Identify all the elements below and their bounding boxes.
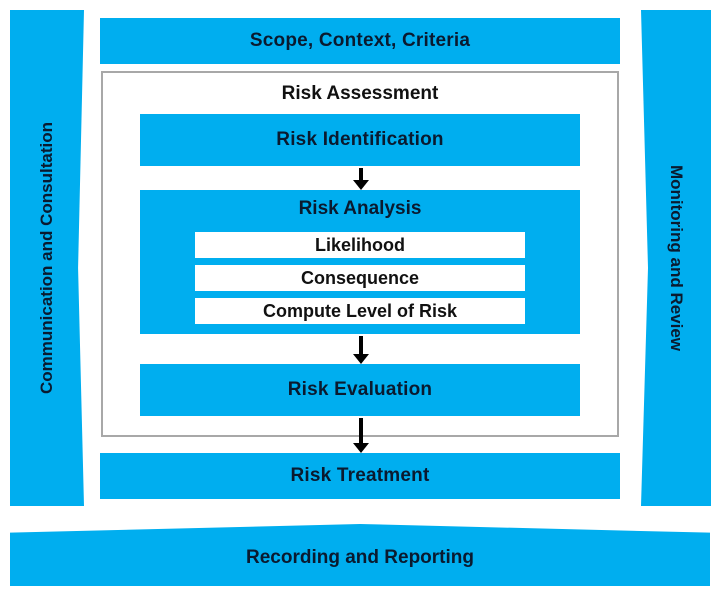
sub-box-compute-level-of-risk: Compute Level of Risk	[195, 298, 525, 324]
banner-risk-treatment: Risk Treatment	[100, 453, 620, 499]
banner-recording-and-reporting: Recording and Reporting	[10, 524, 710, 586]
banner-recording-and-reporting-label: Recording and Reporting	[10, 524, 710, 586]
arrow-head	[353, 443, 369, 453]
sub-box-consequence: Consequence	[195, 265, 525, 291]
banner-scope-label: Scope, Context, Criteria	[250, 30, 470, 52]
side-panel-right-label: Monitoring and Review	[666, 165, 686, 351]
side-panel-communication-and-consultation: Communication and Consultation	[10, 10, 84, 506]
arrow-stem	[359, 168, 363, 180]
box-risk-analysis: Risk Analysis Likelihood Consequence Com…	[140, 190, 580, 334]
arrow-head	[353, 180, 369, 190]
arrow-stem	[359, 418, 363, 443]
banner-scope-context-criteria: Scope, Context, Criteria	[100, 18, 620, 64]
arrow-head	[353, 354, 369, 364]
box-risk-evaluation-label: Risk Evaluation	[288, 379, 433, 401]
arrow-stem	[359, 336, 363, 354]
sub-box-likelihood: Likelihood	[195, 232, 525, 258]
box-risk-identification-label: Risk Identification	[276, 129, 443, 151]
panel-risk-assessment-title: Risk Assessment	[103, 83, 617, 105]
sub-box-likelihood-label: Likelihood	[315, 235, 405, 256]
side-panel-monitoring-and-review: Monitoring and Review	[641, 10, 711, 506]
box-risk-analysis-label: Risk Analysis	[140, 198, 580, 220]
side-panel-left-label: Communication and Consultation	[37, 122, 57, 394]
arrow-down-icon-evaluation-to-treatment	[353, 418, 369, 453]
sub-box-consequence-label: Consequence	[301, 268, 419, 289]
sub-box-compute-level-of-risk-label: Compute Level of Risk	[263, 301, 457, 322]
box-risk-evaluation: Risk Evaluation	[140, 364, 580, 416]
arrow-down-icon-identification-to-analysis	[353, 168, 369, 190]
risk-management-diagram: Communication and Consultation Monitorin…	[0, 0, 720, 594]
box-risk-identification: Risk Identification	[140, 114, 580, 166]
arrow-down-icon-analysis-to-evaluation	[353, 336, 369, 364]
banner-risk-treatment-label: Risk Treatment	[290, 465, 429, 487]
